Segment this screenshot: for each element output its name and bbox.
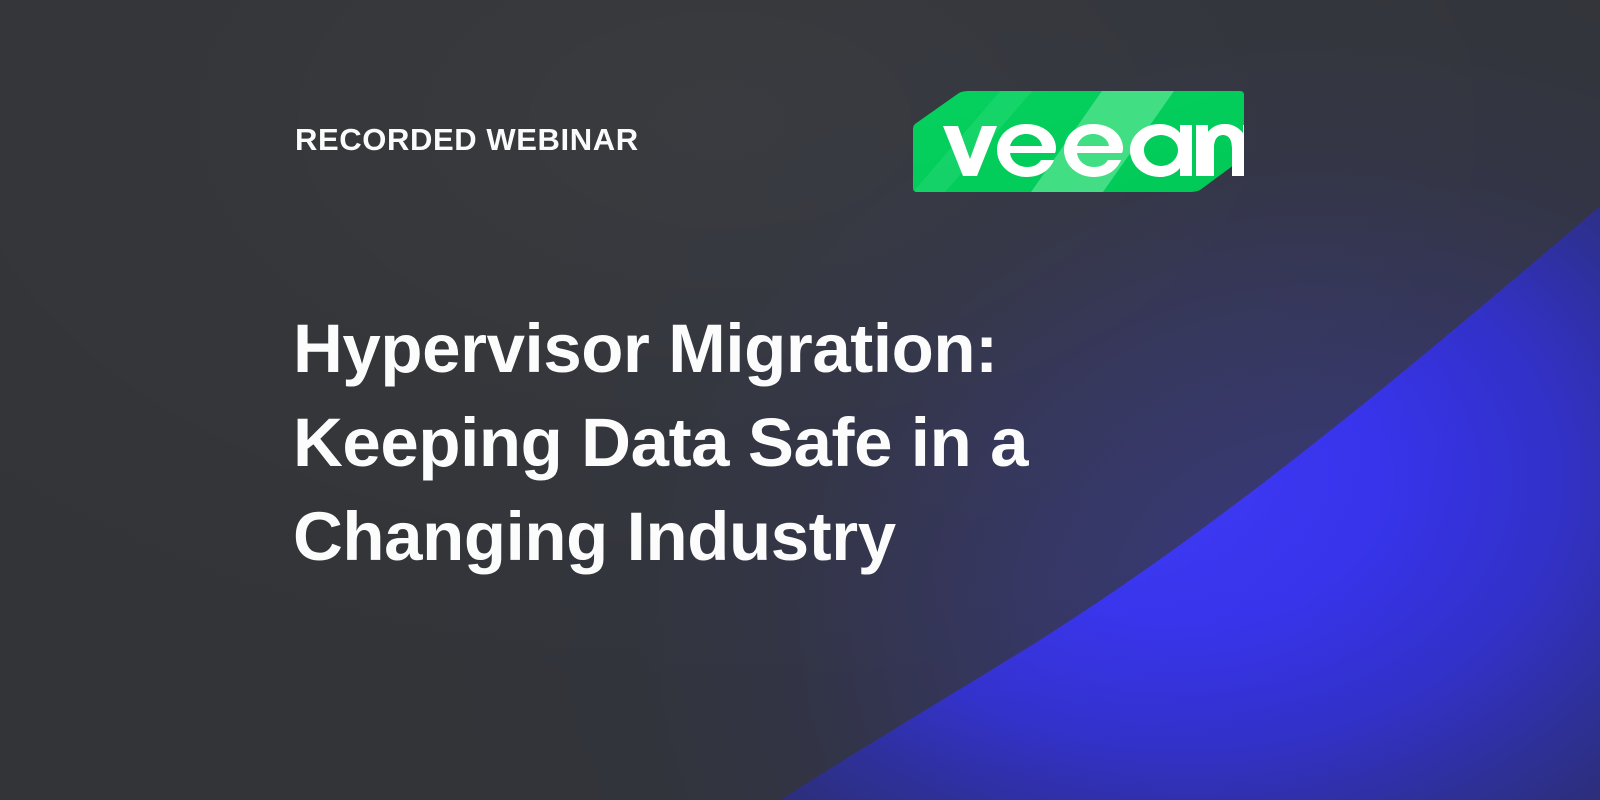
eyebrow-label: RECORDED WEBINAR <box>295 124 639 155</box>
page-title: Hypervisor Migration: Keeping Data Safe … <box>293 302 1153 584</box>
webinar-promo-banner: RECORDED WEBINAR Hypervisor Migration: K… <box>0 0 1600 800</box>
headline-line-1: Hypervisor Migration: <box>293 302 1153 396</box>
banner-content: RECORDED WEBINAR Hypervisor Migration: K… <box>0 0 1600 800</box>
veeam-logo <box>913 91 1244 192</box>
headline-line-3: Changing Industry <box>293 490 1153 584</box>
headline-line-2: Keeping Data Safe in a <box>293 396 1153 490</box>
